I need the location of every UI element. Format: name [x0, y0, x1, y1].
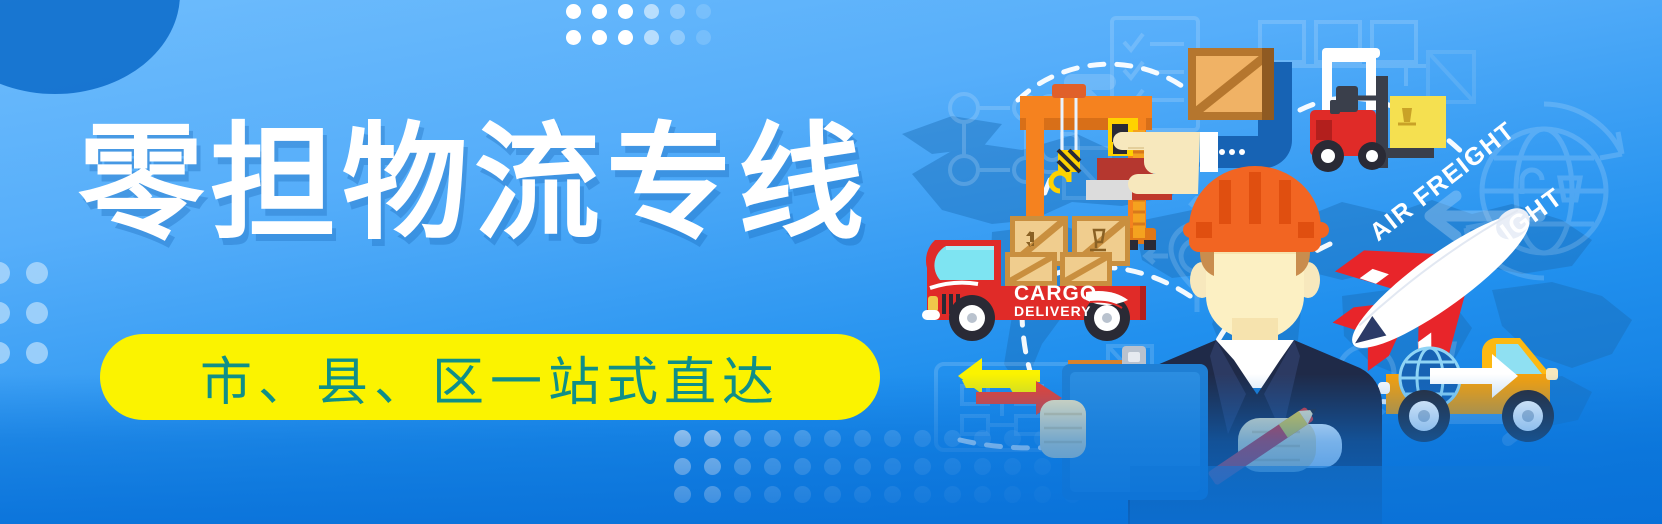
wooden-crates: [1005, 216, 1130, 286]
forklift: [1310, 48, 1446, 172]
page-title: 零担物流专线: [78, 118, 898, 254]
wooden-crate-upper: [1188, 48, 1274, 120]
cargo-delivery-truck: CARGO DELIVERY: [922, 216, 1146, 341]
text-block: 零担物流专线: [78, 118, 898, 254]
logistics-banner: AIR FREIGHT AIR FREIGHT: [0, 0, 1662, 524]
subtitle-text: 市、县、区一站式直达: [200, 340, 780, 415]
truck-label-line2: DELIVERY: [1014, 303, 1092, 319]
subtitle-pill[interactable]: 市、县、区一站式直达: [100, 334, 880, 420]
truck-label-line1: CARGO: [1014, 282, 1097, 305]
